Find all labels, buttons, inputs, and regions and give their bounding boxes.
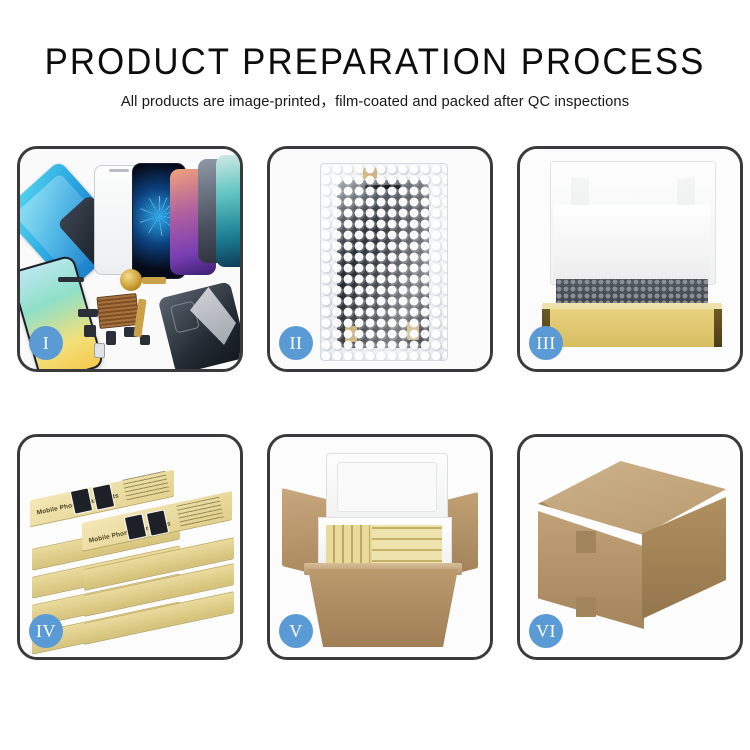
- foam-box-lid-icon: [326, 453, 448, 527]
- process-step-panel-1: Mobile phones, LCD screens and spare par…: [17, 146, 243, 372]
- page-header: PRODUCT PREPARATION PROCESS All products…: [0, 0, 750, 112]
- chip-board-icon: [96, 293, 139, 329]
- small-part-icon: [78, 309, 98, 317]
- carton-body-icon: [308, 569, 458, 647]
- plastic-sheen: [321, 164, 447, 360]
- white-foam-sheet-icon: [554, 205, 710, 281]
- small-part-icon: [58, 277, 84, 282]
- step-6-caption: Sealed brown shipping carton ready for d…: [520, 437, 521, 438]
- step-badge-3: III: [529, 326, 563, 360]
- page-title: PRODUCT PREPARATION PROCESS: [23, 0, 728, 83]
- small-part-icon: [106, 331, 116, 345]
- page-subtitle: All products are image-printed，film-coat…: [11, 83, 739, 112]
- carton-tab-icon: [576, 531, 596, 553]
- small-part-icon: [84, 325, 96, 337]
- product-preparation-page: PRODUCT PREPARATION PROCESS All products…: [0, 0, 750, 750]
- small-part-icon: [140, 335, 150, 345]
- process-step-panel-5: Brown shipping carton with foam box hold…: [267, 434, 493, 660]
- step-4-caption: Stack of printed yellow retail boxes: [20, 437, 21, 438]
- teal-phone-icon: [216, 155, 240, 267]
- step-badge-5: V: [279, 614, 313, 648]
- step-badge-6: VI: [529, 614, 563, 648]
- process-step-panel-6: Sealed brown shipping carton ready for d…: [517, 434, 743, 660]
- process-steps-grid: Mobile phones, LCD screens and spare par…: [17, 146, 735, 726]
- box-stack-icon: Mobile Phone Spare Parts Mobile Phone Sp…: [30, 457, 236, 647]
- step-badge-4: IV: [29, 614, 63, 648]
- process-step-panel-3: Open yellow carton with white foam lid a…: [517, 146, 743, 372]
- bubble-wrap-bag-icon: [320, 163, 448, 361]
- process-step-panel-2: LCD screen assembly sealed in bubble wra…: [267, 146, 493, 372]
- process-step-panel-4: Mobile Phone Spare Parts Mobile Phone Sp…: [17, 434, 243, 660]
- flex-cable-icon: [142, 277, 166, 284]
- step-3-caption: Open yellow carton with white foam lid a…: [520, 149, 521, 150]
- step-badge-2: II: [279, 326, 313, 360]
- step-1-caption: Mobile phones, LCD screens and spare par…: [20, 149, 21, 150]
- step-2-caption: LCD screen assembly sealed in bubble wra…: [270, 149, 271, 150]
- yellow-box-body-icon: [542, 309, 722, 347]
- step-badge-1: I: [29, 326, 63, 360]
- carton-tab-icon: [576, 597, 596, 617]
- sim-tray-icon: [94, 343, 105, 358]
- step-5-caption: Brown shipping carton with foam box hold…: [270, 437, 271, 438]
- speaker-module-icon: [120, 269, 142, 291]
